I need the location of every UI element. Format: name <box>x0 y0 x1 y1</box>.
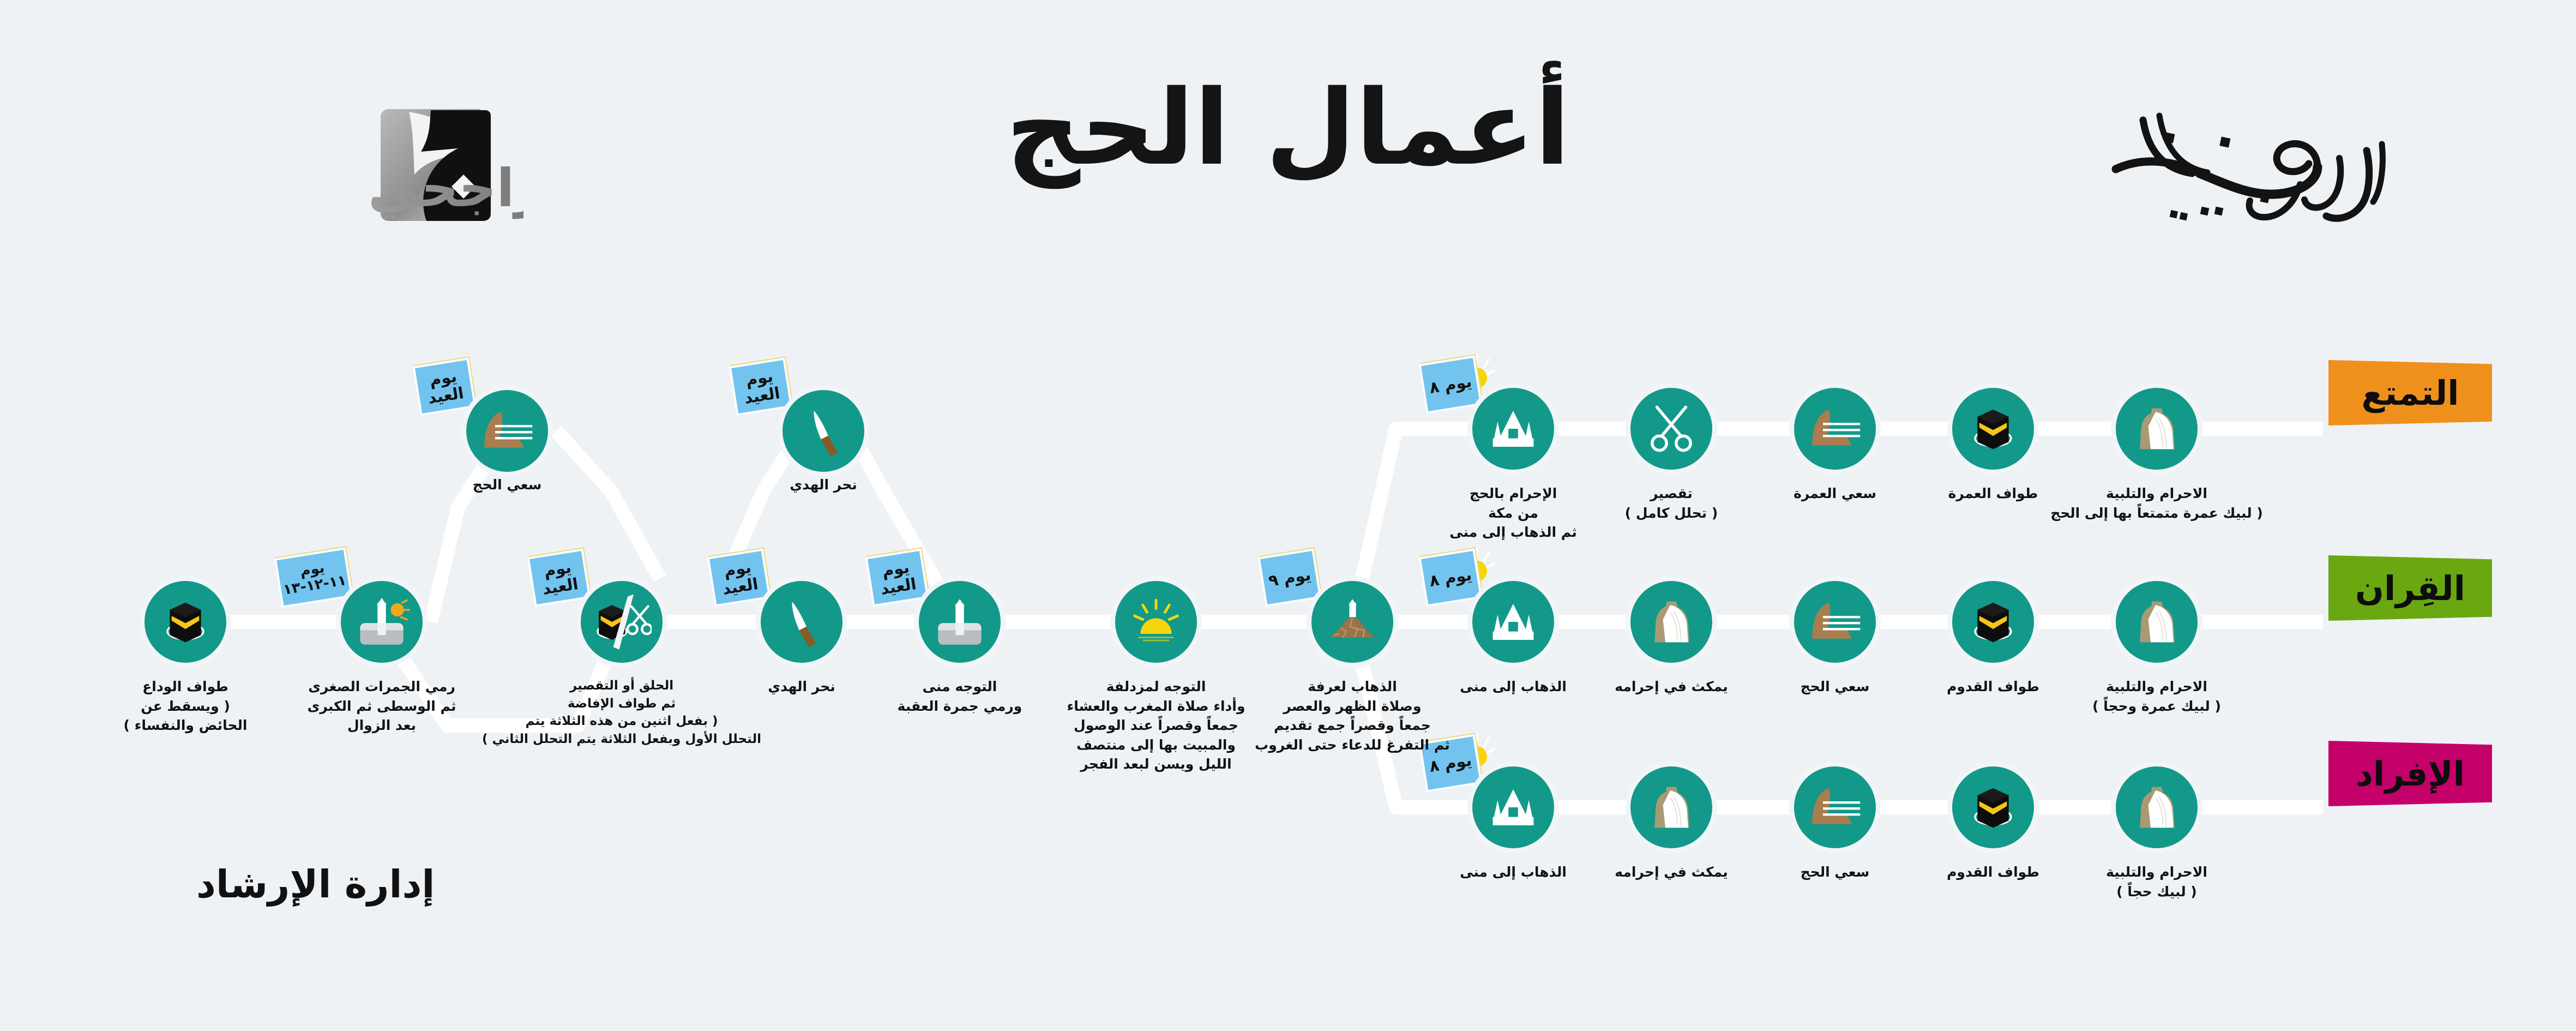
mountain-icon <box>1311 581 1393 663</box>
saee-icon <box>1794 388 1876 470</box>
scissors-icon <box>1630 388 1712 470</box>
knife-icon <box>783 390 864 472</box>
kaaba-tawaf-icon <box>1952 766 2034 848</box>
node-label: نحر الهدي <box>706 475 941 495</box>
node-qiran-go-mina[interactable]: يوم ٨ الذهاب إلى منى <box>1472 581 1554 663</box>
day-flag: يوم ٨ <box>1418 548 1482 607</box>
node-tamattu-ihram-hajj-mina[interactable]: يوم ٨ الإحرام بالحج من مكة ثم الذهاب إلى… <box>1472 388 1554 470</box>
badge-ifrad[interactable]: الإفراد <box>2328 741 2492 806</box>
brand-logo: الراجحي <box>174 87 523 251</box>
day-flag: يوم ٨ <box>1418 355 1482 413</box>
day-flag: يوم العيد <box>412 357 476 416</box>
day-flag: يوم العيد <box>707 548 771 607</box>
kaaba-tawaf-icon <box>145 581 226 663</box>
node-qiran-tawaf-qudum[interactable]: طواف القدوم <box>1952 581 2034 663</box>
node-ifrad-go-mina[interactable]: يوم ٨ الذهاب إلى منى <box>1472 766 1554 848</box>
sunrise-icon <box>1115 581 1197 663</box>
svg-text:الراجحي: الراجحي <box>368 158 523 219</box>
node-qiran-saee-hajj[interactable]: سعي الحج <box>1794 581 1876 663</box>
day-flag: يوم العيد <box>865 548 929 607</box>
day-flag: يوم ٩ <box>1257 548 1321 607</box>
node-nahr-hady-upper[interactable]: يوم العيد نحر الهدي <box>783 390 864 472</box>
node-qiran-ihram[interactable]: الاحرام والتلبية ( لبيك عمرة وحجاً ) <box>2116 581 2198 663</box>
node-label: الإحرام بالحج من مكة ثم الذهاب إلى منى <box>1371 484 1655 542</box>
badge-qiran[interactable]: القِران <box>2328 555 2492 621</box>
node-ifrad-saee-hajj[interactable]: سعي الحج <box>1794 766 1876 848</box>
day-flag: يوم العيد <box>527 548 591 607</box>
day-flag: يوم ١١-١٢-١٣ <box>274 547 353 608</box>
node-mina-jamrah-aqaba[interactable]: يوم العيد التوجه منى ورمي جمرة العقبة <box>919 581 1001 663</box>
ihram-icon <box>2116 388 2198 470</box>
node-ifrad-ihram[interactable]: الاحرام والتلبية ( لبيك حجاً ) <box>2116 766 2198 848</box>
kaaba-tawaf-icon <box>1952 581 2034 663</box>
node-ifrad-tawaf-qudum[interactable]: طواف القدوم <box>1952 766 2034 848</box>
node-tamattu-tawaf-umrah[interactable]: طواف العمرة <box>1952 388 2034 470</box>
kaaba-scissors-icon <box>581 581 663 663</box>
tents-icon <box>1472 388 1554 470</box>
node-qiran-stay-ihram[interactable]: يمكث في إحرامه <box>1630 581 1712 663</box>
node-tamattu-saee-umrah[interactable]: سعي العمرة <box>1794 388 1876 470</box>
node-arafah[interactable]: يوم ٩ الذهاب لعرفة وصلاة الظهر والعصر جم… <box>1311 581 1393 663</box>
ihram-icon <box>1630 766 1712 848</box>
node-tamattu-ihram[interactable]: الاحرام والتلبية ( لبيك عمرة متمتعاً بها… <box>2116 388 2198 470</box>
node-label: الذهاب إلى منى <box>1396 862 1630 882</box>
tents-icon <box>1472 581 1554 663</box>
saee-icon <box>466 390 548 472</box>
badge-tamattu[interactable]: التمتع <box>2328 360 2492 425</box>
node-label: سعي الحج <box>390 475 624 495</box>
saee-icon <box>1794 766 1876 848</box>
department-label: إدارة الإرشاد <box>196 862 435 907</box>
node-saee-hajj-upper[interactable]: يوم العيد سعي الحج <box>466 390 548 472</box>
jamrah-icon <box>919 581 1001 663</box>
node-tamattu-taqsir[interactable]: تقصير ( تحلل كامل ) <box>1630 388 1712 470</box>
node-halq-taqsir-ifada[interactable]: يوم العيد الحلق أو التقصير ثم طواف الإفا… <box>581 581 663 663</box>
node-nahr-hady-lower[interactable]: يوم العيد نحر الهدي <box>761 581 842 663</box>
node-tawaf-wada[interactable]: طواف الوداع ( ويسقط عن الحائض والنفساء ) <box>145 581 226 663</box>
jamrah-sun-icon <box>341 581 423 663</box>
ihram-icon <box>1630 581 1712 663</box>
node-ifrad-stay-ihram[interactable]: يمكث في إحرامه <box>1630 766 1712 848</box>
saee-icon <box>1794 581 1876 663</box>
node-label: طواف الوداع ( ويسقط عن الحائض والنفساء ) <box>44 677 327 735</box>
node-rami-jamarat[interactable]: يوم ١١-١٢-١٣ رمي الجمرات الصغرى ثم الوسط… <box>341 581 423 663</box>
knife-icon <box>761 581 842 663</box>
kaaba-tawaf-icon <box>1952 388 2034 470</box>
ihram-icon <box>2116 581 2198 663</box>
day-flag: يوم العيد <box>729 357 792 416</box>
node-muzdalifah[interactable]: التوجه لمزدلفة وأداء صلاة المغرب والعشاء… <box>1115 581 1197 663</box>
ihram-icon <box>2116 766 2198 848</box>
tents-icon <box>1472 766 1554 848</box>
hajj-calligraphy-icon <box>2083 87 2421 240</box>
